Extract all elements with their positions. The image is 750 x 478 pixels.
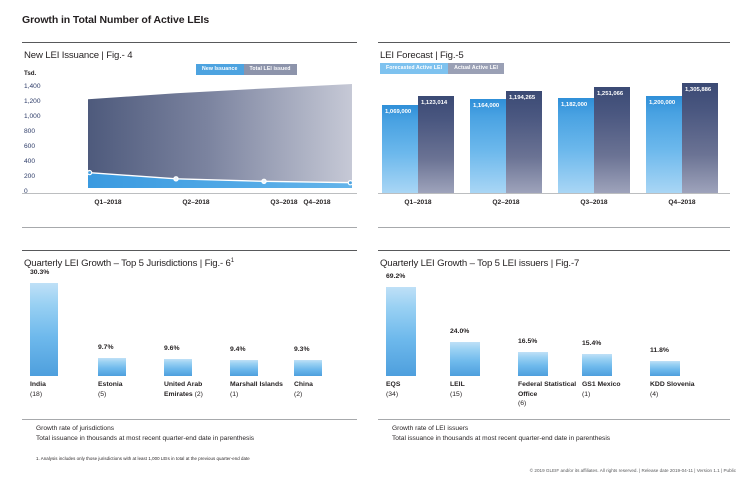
bar-label-china-count: (2)	[294, 391, 302, 398]
area-chart-new-lei-issuance	[88, 76, 352, 193]
bar-label-actual-q2: 1,194,265	[509, 95, 535, 101]
bar-actual-q3[interactable]	[594, 87, 630, 193]
bar-value-kdd-slovenia: 11.8%	[650, 347, 669, 354]
bar-kdd-slovenia[interactable]	[650, 361, 680, 376]
panel-title-top-issuers: Quarterly LEI Growth – Top 5 LEI issuers…	[380, 258, 579, 269]
y-tick-1400: 1,400	[24, 83, 41, 90]
y-tick-600: 600	[24, 143, 35, 150]
panel-bottom-rule	[22, 419, 357, 420]
panel-bottom-rule	[378, 227, 730, 228]
x-axis-line	[22, 193, 357, 194]
y-tick-800: 800	[24, 128, 35, 135]
bar-label-uae-count: (2)	[195, 391, 203, 398]
panel-top-issuers: Quarterly LEI Growth – Top 5 LEI issuers…	[378, 250, 730, 420]
panel-title-lei-forecast: LEI Forecast | Fig.-5	[380, 50, 464, 61]
x-axis-line	[378, 193, 730, 194]
panel-title-text: Quarterly LEI Growth – Top 5 Jurisdictio…	[24, 258, 231, 269]
bar-forecasted-q3[interactable]	[558, 98, 594, 193]
bar-value-india: 30.3%	[30, 269, 49, 276]
bar-label-gs1-count: (1)	[582, 391, 590, 398]
bar-label-estonia-name: Estonia	[98, 381, 123, 388]
bar-label-gs1-mexico: GS1 Mexico (1)	[582, 380, 648, 399]
bar-label-forecasted-q2: 1,164,000	[473, 103, 499, 109]
legend-item-forecasted-active-lei[interactable]: Forecasted Active LEI	[380, 63, 448, 74]
bar-india[interactable]	[30, 283, 58, 376]
y-tick-400: 400	[24, 158, 35, 165]
bar-label-china: China (2)	[294, 380, 356, 399]
bar-leil[interactable]	[450, 342, 480, 376]
note-growth-rate-jurisdictions: Growth rate of jurisdictions	[36, 424, 114, 434]
bar-actual-q4[interactable]	[682, 83, 718, 193]
bar-federal-statistical-office[interactable]	[518, 352, 548, 376]
bar-label-leil-name: LEIL	[450, 381, 465, 388]
bar-label-forecasted-q1: 1,069,000	[385, 109, 411, 115]
panel-top-jurisdictions: Quarterly LEI Growth – Top 5 Jurisdictio…	[22, 250, 357, 420]
note-total-issuance-jurisdictions: Total issuance in thousands at most rece…	[36, 434, 254, 444]
bar-label-kdd-name: KDD Slovenia	[650, 381, 695, 388]
bar-label-eqs-count: (34)	[386, 391, 398, 398]
bar-estonia[interactable]	[98, 358, 126, 376]
panel-title-top-jurisdictions: Quarterly LEI Growth – Top 5 Jurisdictio…	[24, 258, 234, 269]
panel-lei-forecast: LEI Forecast | Fig.-5 Forecasted Active …	[378, 42, 730, 228]
legend-item-new-issuance[interactable]: New Issuance	[196, 64, 244, 75]
data-point-q4	[348, 181, 352, 185]
bar-forecasted-q1[interactable]	[382, 105, 418, 193]
x-tick-q3-2018: Q3–2018	[554, 199, 634, 206]
y-tick-1000: 1,000	[24, 113, 41, 120]
note-total-issuance-issuers: Total issuance in thousands at most rece…	[392, 434, 610, 444]
bar-label-china-name: China	[294, 381, 313, 388]
panel-top-rule	[378, 42, 730, 43]
bar-value-china: 9.3%	[294, 346, 310, 353]
bar-label-marshall-islands: Marshall Islands (1)	[230, 380, 292, 399]
bar-marshall-islands[interactable]	[230, 360, 258, 376]
bar-label-forecasted-q3: 1,182,000	[561, 102, 587, 108]
bar-value-eqs: 69.2%	[386, 273, 405, 280]
panel-top-rule	[378, 250, 730, 251]
bar-label-fso-name: Federal Statistical Office	[518, 381, 576, 398]
bar-united-arab-emirates[interactable]	[164, 359, 192, 376]
bar-forecasted-q4[interactable]	[646, 96, 682, 193]
bar-label-united-arab-emirates: United Arab Emirates (2)	[164, 380, 224, 399]
legend-new-lei-issuance: New Issuance Total LEI issued	[196, 64, 297, 75]
bar-value-united-arab-emirates: 9.6%	[164, 345, 180, 352]
area-total-lei-issued	[88, 84, 352, 188]
bar-label-actual-q4: 1,305,886	[685, 87, 711, 93]
page-title: Growth in Total Number of Active LEIs	[22, 14, 209, 26]
bar-gs1-mexico[interactable]	[582, 354, 612, 376]
bar-label-forecasted-q4: 1,200,000	[649, 100, 675, 106]
bar-label-kdd-count: (4)	[650, 391, 658, 398]
footnote-jurisdictions: 1. Analysis includes only those jurisdic…	[36, 456, 250, 461]
data-point-q3	[262, 179, 266, 183]
bar-label-india-name: India	[30, 381, 46, 388]
panel-new-lei-issuance: New LEI Issuance | Fig.- 4 New Issuance …	[22, 42, 357, 228]
x-tick-q4-2018: Q4–2018	[642, 199, 722, 206]
x-tick-q2-2018: Q2–2018	[466, 199, 546, 206]
bar-chart-top-issuers: 69.2% 24.0% 16.5% 15.4% 11.8%	[378, 278, 730, 376]
y-tick-1200: 1,200	[24, 98, 41, 105]
bar-label-eqs: EQS (34)	[386, 380, 448, 399]
bar-label-leil-count: (15)	[450, 391, 462, 398]
note-growth-rate-issuers: Growth rate of LEI issuers	[392, 424, 468, 434]
report-page: Growth in Total Number of Active LEIs Ne…	[0, 0, 750, 478]
bar-actual-q1[interactable]	[418, 96, 454, 193]
bar-label-actual-q3: 1,251,066	[597, 91, 623, 97]
bar-label-kdd-slovenia: KDD Slovenia (4)	[650, 380, 720, 399]
legend-item-total-lei-issued[interactable]: Total LEI issued	[244, 64, 297, 75]
bar-value-leil: 24.0%	[450, 328, 469, 335]
y-axis-unit: Tsd.	[24, 70, 36, 77]
bar-actual-q2[interactable]	[506, 91, 542, 193]
bar-label-marshall-name: Marshall Islands	[230, 381, 283, 388]
bar-eqs[interactable]	[386, 287, 416, 376]
x-tick-q2-2018: Q2–2018	[156, 199, 236, 206]
panel-bottom-rule	[378, 419, 730, 420]
bar-label-leil: LEIL (15)	[450, 380, 512, 399]
bar-value-gs1-mexico: 15.4%	[582, 340, 601, 347]
panel-title-superscript: 1	[231, 258, 234, 264]
x-tick-q1-2018: Q1–2018	[68, 199, 148, 206]
bar-label-eqs-name: EQS	[386, 381, 400, 388]
panel-top-rule	[22, 250, 357, 251]
data-point-q1	[88, 171, 92, 175]
x-tick-q1-2018: Q1–2018	[378, 199, 458, 206]
bar-value-estonia: 9.7%	[98, 344, 114, 351]
page-footer: © 2019 GLEIF and/or its affiliates. All …	[530, 468, 736, 473]
bar-label-fso-count: (6)	[518, 400, 526, 407]
bar-label-estonia-count: (5)	[98, 391, 106, 398]
legend-item-actual-active-lei[interactable]: Actual Active LEI	[448, 63, 504, 74]
panel-title-new-lei-issuance: New LEI Issuance | Fig.- 4	[24, 50, 132, 61]
data-point-q2	[174, 177, 178, 181]
bar-label-india: India (18)	[30, 380, 92, 399]
bar-value-marshall-islands: 9.4%	[230, 346, 246, 353]
bar-chart-lei-forecast: 1,069,000 1,123,014 1,164,000 1,194,265 …	[378, 78, 730, 193]
bar-label-estonia: Estonia (5)	[98, 380, 160, 399]
y-tick-200: 200	[24, 173, 35, 180]
bar-value-federal-statistical-office: 16.5%	[518, 338, 537, 345]
bar-label-gs1-name: GS1 Mexico	[582, 381, 621, 388]
bar-label-actual-q1: 1,123,014	[421, 100, 447, 106]
legend-lei-forecast: Forecasted Active LEI Actual Active LEI	[380, 63, 504, 74]
bar-chart-top-jurisdictions: 30.3% 9.7% 9.6% 9.4% 9.3%	[22, 278, 357, 376]
panel-bottom-rule	[22, 227, 357, 228]
bar-label-federal-statistical-office: Federal Statistical Office (6)	[518, 380, 584, 409]
bar-forecasted-q2[interactable]	[470, 99, 506, 193]
bar-label-india-count: (18)	[30, 391, 42, 398]
bar-label-marshall-count: (1)	[230, 391, 238, 398]
bar-china[interactable]	[294, 360, 322, 376]
panel-top-rule	[22, 42, 357, 43]
x-tick-q4-2018: Q4–2018	[277, 199, 357, 206]
